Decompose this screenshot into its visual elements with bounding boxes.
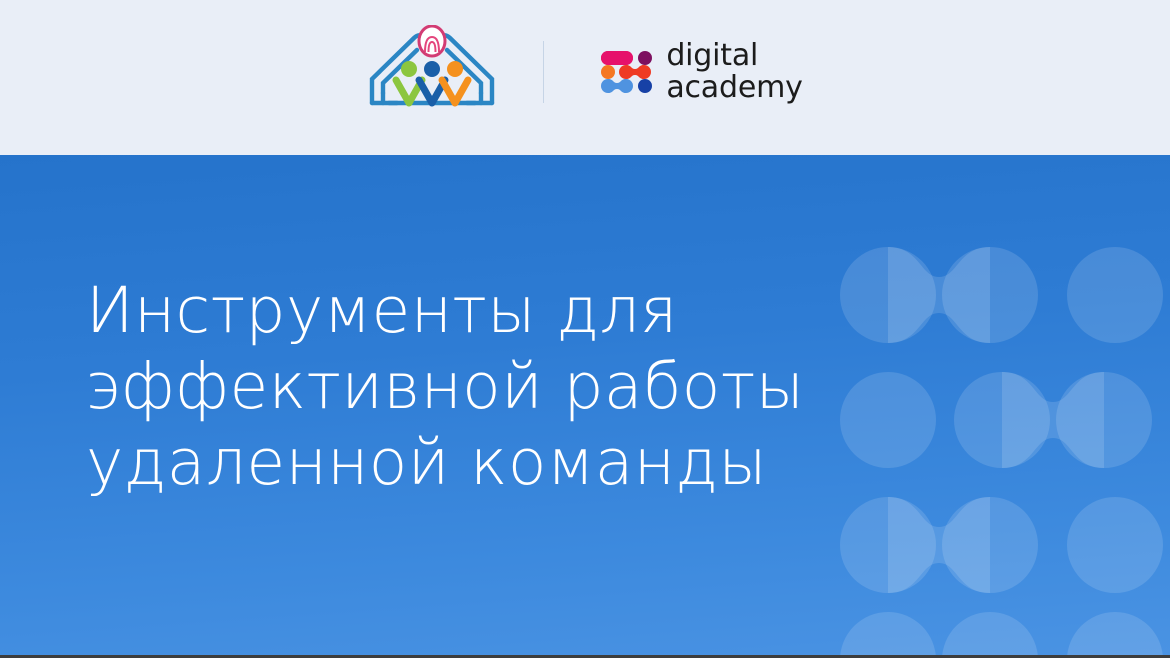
digital-academy-logo: digital academy xyxy=(600,40,802,104)
wordmark-line-academy: academy xyxy=(666,72,802,104)
wordmark-line-digital: digital xyxy=(666,40,802,72)
digital-academy-dots-logo xyxy=(600,48,652,96)
vertical-divider xyxy=(543,41,544,103)
title-line-1: Инструменты для xyxy=(86,273,946,349)
page-title: Инструменты для эффективной работы удале… xyxy=(86,273,946,501)
title-line-3: удаленной команды xyxy=(86,425,946,501)
digital-academy-wordmark: digital academy xyxy=(666,40,802,104)
main-panel: Инструменты для эффективной работы удале… xyxy=(0,155,1170,655)
title-line-2: эффективной работы xyxy=(86,349,946,425)
house-with-people-logo xyxy=(367,25,497,119)
slide-root: digital academy xyxy=(0,0,1170,658)
header-band: digital academy xyxy=(0,0,1170,155)
logo-row: digital academy xyxy=(367,25,802,119)
